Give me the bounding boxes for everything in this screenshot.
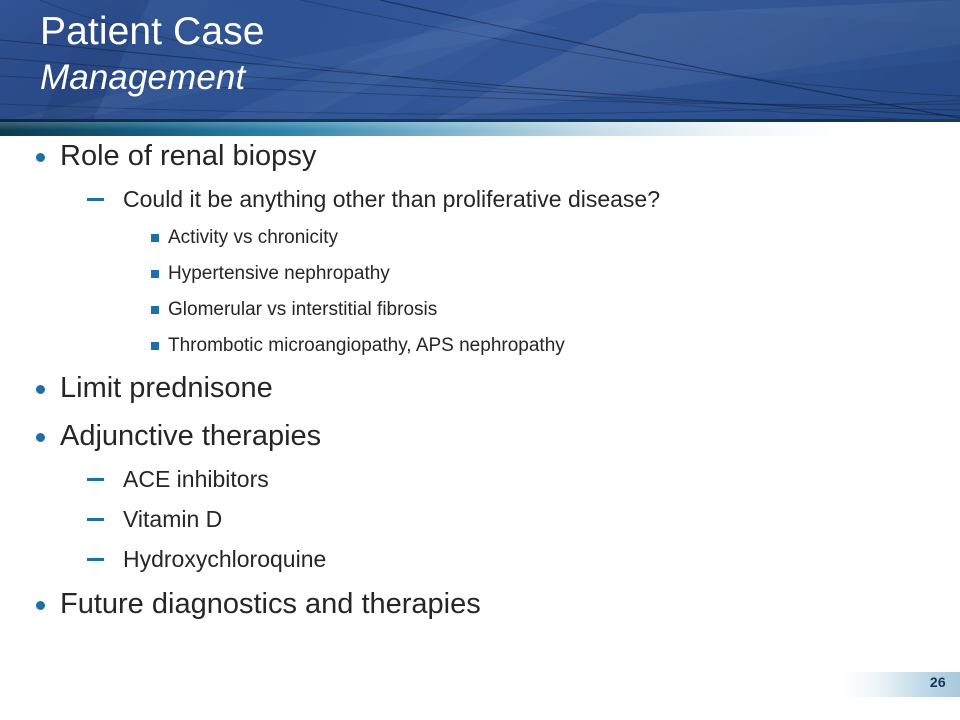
bullet-item: Thrombotic microangiopathy, APS nephropa… (0, 335, 960, 357)
bullet-item: Vitamin D (0, 506, 960, 533)
bullet-label: Vitamin D (123, 506, 222, 532)
slide-body-content: Role of renal biopsy Could it be anythin… (0, 140, 960, 670)
bullet-dot-icon (36, 153, 45, 162)
slide-title-block: Patient Case Management (40, 8, 265, 100)
bullet-item: Hydroxychloroquine (0, 546, 960, 573)
bullet-label: Limit prednisone (60, 372, 273, 404)
bullet-item: Could it be anything other than prolifer… (0, 186, 960, 213)
slide-number: 26 (930, 674, 946, 690)
bullet-dash-icon (87, 558, 104, 561)
bullet-dash-icon (87, 198, 104, 201)
bullet-dot-icon (36, 385, 45, 394)
bullet-item: Hypertensive nephropathy (0, 263, 960, 285)
bullet-label: Adjunctive therapies (60, 420, 321, 452)
bullet-label: Role of renal biopsy (60, 140, 316, 172)
bullet-item: Glomerular vs interstitial fibrosis (0, 299, 960, 321)
bullet-label: Could it be anything other than prolifer… (123, 186, 660, 212)
bullet-square-icon (151, 234, 159, 242)
bullet-label: Hydroxychloroquine (123, 546, 326, 572)
bullet-item: Future diagnostics and therapies (0, 588, 960, 621)
bullet-square-icon (151, 342, 159, 350)
bullet-item: Activity vs chronicity (0, 227, 960, 249)
bullet-label: Activity vs chronicity (168, 227, 338, 248)
bullet-dash-icon (87, 518, 104, 521)
bullet-dot-icon (36, 433, 45, 442)
bullet-label: Future diagnostics and therapies (60, 588, 481, 620)
page-subtitle: Management (40, 56, 265, 100)
bullet-item: Role of renal biopsy (0, 140, 960, 173)
bullet-square-icon (151, 270, 159, 278)
bullet-item: Limit prednisone (0, 372, 960, 405)
presentation-slide: Patient Case Management Role of renal bi… (0, 0, 960, 720)
bullet-dot-icon (36, 601, 45, 610)
bullet-label: Thrombotic microangiopathy, APS nephropa… (168, 335, 565, 356)
header-accent-strip (0, 122, 960, 136)
bullet-label: Glomerular vs interstitial fibrosis (168, 299, 437, 320)
bullet-item: ACE inhibitors (0, 466, 960, 493)
bullet-dash-icon (87, 478, 104, 481)
bullet-item: Adjunctive therapies (0, 420, 960, 453)
bullet-label: ACE inhibitors (123, 466, 269, 492)
slide-header-band: Patient Case Management (0, 0, 960, 122)
bullet-label: Hypertensive nephropathy (168, 263, 390, 284)
page-title: Patient Case (40, 8, 265, 56)
bullet-square-icon (151, 306, 159, 314)
